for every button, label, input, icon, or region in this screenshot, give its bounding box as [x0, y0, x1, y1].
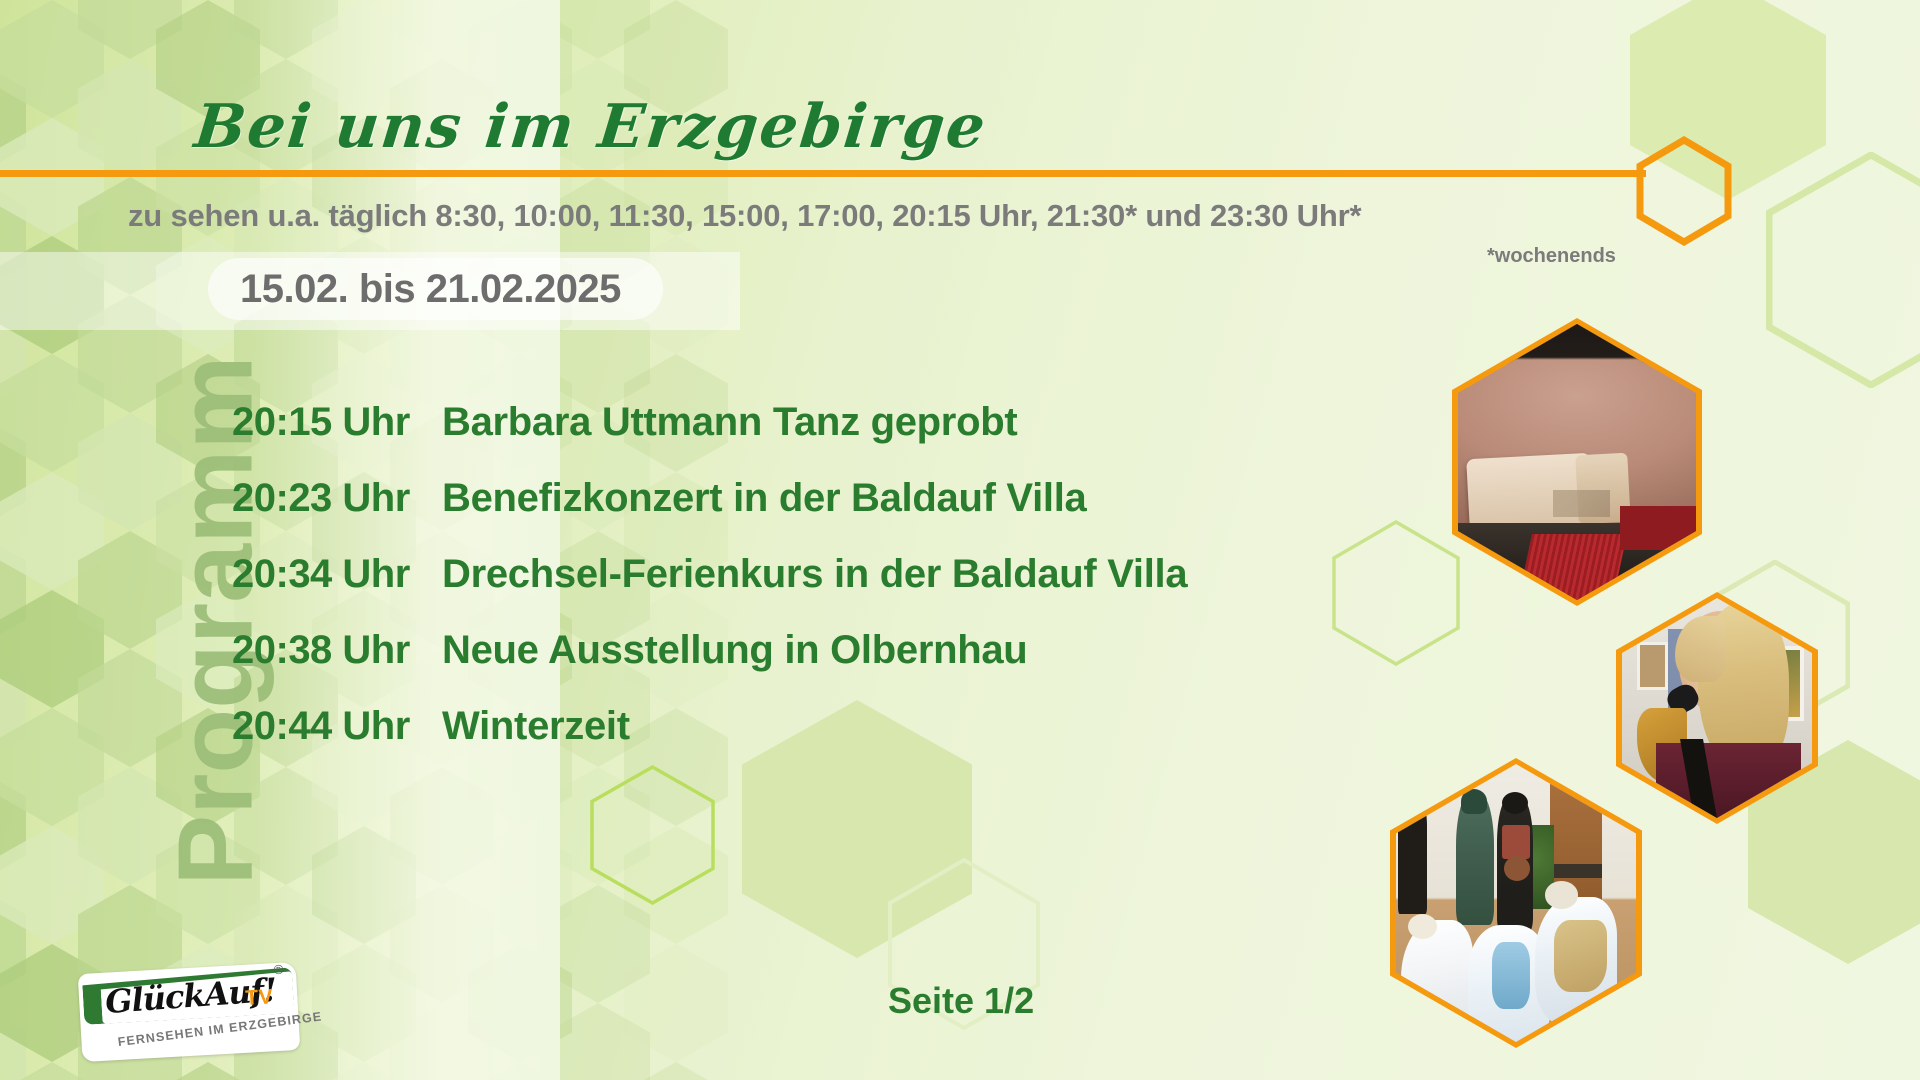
- honeycomb-cell: [0, 767, 26, 885]
- program-time: 20:44 Uhr: [232, 704, 442, 749]
- program-title: Neue Ausstellung in Olbernhau: [442, 628, 1027, 673]
- honeycomb-cell: [624, 826, 728, 944]
- logo-tv-label: TV: [245, 985, 274, 1011]
- photo-historic-dance: [1390, 758, 1642, 1048]
- program-title: Winterzeit: [442, 704, 630, 749]
- honeycomb-cell: [546, 1003, 650, 1080]
- honeycomb-cell: [78, 295, 182, 413]
- broadcast-slide: Bei uns im Erzgebirge zu sehen u.a. tägl…: [0, 0, 1920, 1080]
- honeycomb-cell: [234, 0, 338, 59]
- honeycomb-cell: [0, 708, 104, 826]
- photo-wood-turning: [1452, 318, 1702, 606]
- photo-image-wood-turning: [1458, 324, 1696, 600]
- program-time: 20:34 Uhr: [232, 552, 442, 597]
- honeycomb-cell: [468, 944, 572, 1062]
- background-hexagon-outline-bright: [590, 765, 715, 905]
- honeycomb-cell: [0, 1062, 104, 1080]
- honeycomb-cell: [0, 59, 26, 177]
- program-time: 20:38 Uhr: [232, 628, 442, 673]
- honeycomb-cell: [312, 826, 416, 944]
- honeycomb-cell: [0, 472, 104, 590]
- photo-image-historic-dance: [1396, 764, 1636, 1042]
- page-title: Bei uns im Erzgebirge: [191, 92, 990, 162]
- honeycomb-cell: [78, 0, 182, 59]
- honeycomb-cell: [624, 1062, 728, 1080]
- honeycomb-cell: [78, 767, 182, 885]
- honeycomb-cell: [312, 1062, 416, 1080]
- schedule-footnote: *wochenends: [1487, 245, 1616, 268]
- honeycomb-cell: [0, 118, 104, 236]
- channel-logo[interactable]: GlückAuf! TV ® FERNSEHEN IM ERZGEBIRGE: [78, 962, 301, 1062]
- honeycomb-cell: [78, 413, 182, 531]
- honeycomb-cell: [78, 649, 182, 767]
- honeycomb-cell: [0, 531, 26, 649]
- honeycomb-cell: [546, 767, 650, 885]
- header-divider: [0, 170, 1646, 177]
- honeycomb-cell: [390, 885, 494, 1003]
- honeycomb-cell: [78, 59, 182, 177]
- honeycomb-cell: [0, 295, 26, 413]
- background-hexagon-outline-top-right: [1766, 152, 1920, 388]
- honeycomb-cell: [546, 885, 650, 1003]
- program-row: 20:23 Uhr Benefizkonzert in der Baldauf …: [232, 476, 1187, 552]
- honeycomb-cell: [0, 177, 26, 295]
- photo-saxophone-player: [1616, 592, 1818, 824]
- honeycomb-cell: [78, 177, 182, 295]
- program-list: 20:15 Uhr Barbara Uttmann Tanz geprobt 2…: [232, 400, 1187, 780]
- honeycomb-cell: [468, 1062, 572, 1080]
- honeycomb-cell: [0, 354, 104, 472]
- program-time: 20:15 Uhr: [232, 400, 442, 445]
- program-title: Drechsel-Ferienkurs in der Baldauf Villa: [442, 552, 1187, 597]
- honeycomb-cell: [390, 0, 494, 59]
- program-row: 20:34 Uhr Drechsel-Ferienkurs in der Bal…: [232, 552, 1187, 628]
- honeycomb-cell: [78, 531, 182, 649]
- honeycomb-cell: [234, 767, 338, 885]
- honeycomb-cell: [546, 0, 650, 59]
- honeycomb-cell: [0, 0, 26, 59]
- honeycomb-cell: [468, 826, 572, 944]
- honeycomb-cell: [312, 944, 416, 1062]
- honeycomb-cell: [0, 413, 26, 531]
- honeycomb-cell: [0, 590, 104, 708]
- logo-registered-icon: ®: [273, 962, 283, 978]
- program-title: Barbara Uttmann Tanz geprobt: [442, 400, 1017, 445]
- program-time: 20:23 Uhr: [232, 476, 442, 521]
- honeycomb-cell: [0, 0, 104, 118]
- program-row: 20:44 Uhr Winterzeit: [232, 704, 1187, 780]
- program-title: Benefizkonzert in der Baldauf Villa: [442, 476, 1086, 521]
- honeycomb-cell: [390, 1003, 494, 1080]
- program-row: 20:15 Uhr Barbara Uttmann Tanz geprobt: [232, 400, 1187, 476]
- program-row: 20:38 Uhr Neue Ausstellung in Olbernhau: [232, 628, 1187, 704]
- honeycomb-cell: [0, 236, 104, 354]
- date-range-label: 15.02. bis 21.02.2025: [240, 267, 621, 312]
- honeycomb-cell: [624, 944, 728, 1062]
- divider-hexagon-icon: [1636, 136, 1732, 251]
- page-indicator: Seite 1/2: [888, 980, 1034, 1022]
- honeycomb-cell: [390, 767, 494, 885]
- honeycomb-cell: [0, 885, 26, 1003]
- honeycomb-cell: [156, 1062, 260, 1080]
- honeycomb-cell: [156, 826, 260, 944]
- honeycomb-cell: [0, 1003, 26, 1080]
- broadcast-times: zu sehen u.a. täglich 8:30, 10:00, 11:30…: [128, 198, 1361, 234]
- date-range-badge: 15.02. bis 21.02.2025: [208, 258, 663, 320]
- honeycomb-cell: [0, 649, 26, 767]
- background-hexagon-outline-mid: [1332, 520, 1460, 666]
- honeycomb-cell: [0, 826, 104, 944]
